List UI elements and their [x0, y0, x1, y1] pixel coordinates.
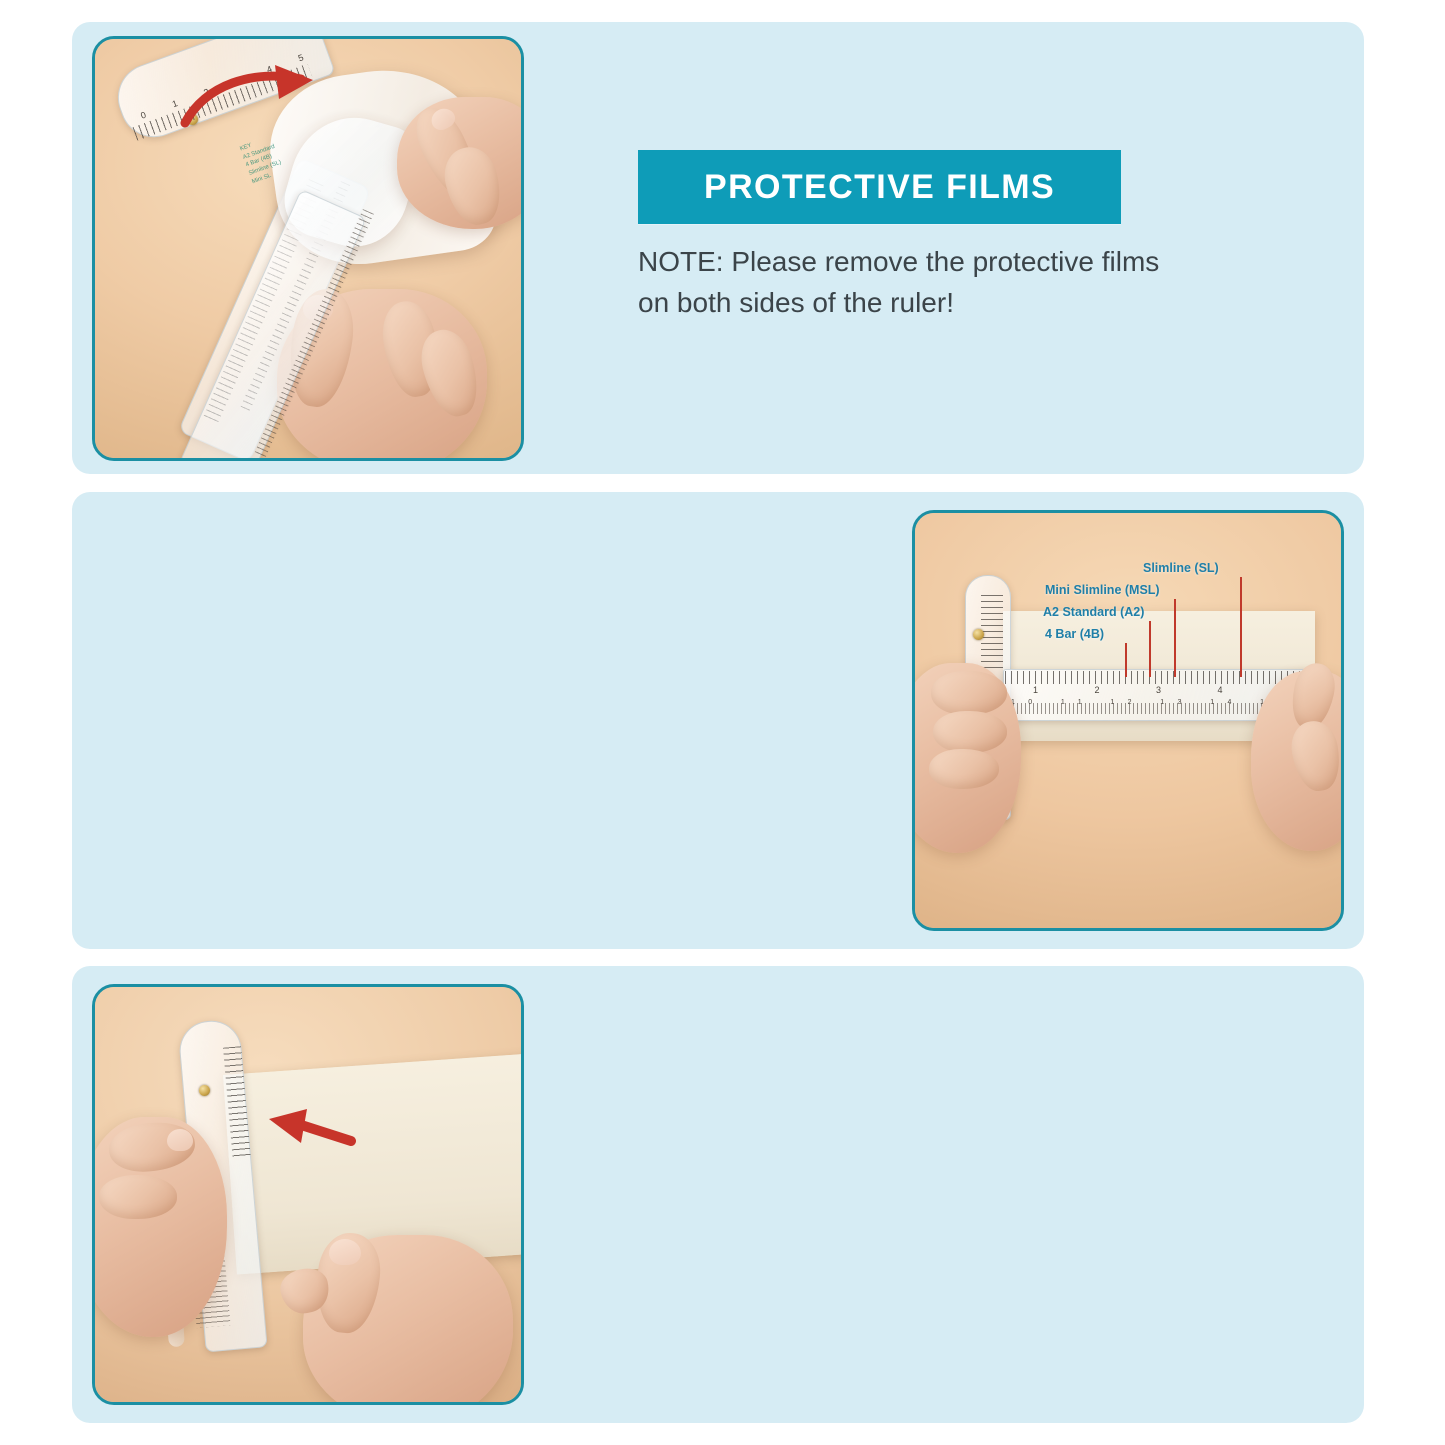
infographic-page: 0 1 2 3 4 5 KEYA2 Standard4 Bar (4B)Slim…: [0, 0, 1445, 1445]
panel-protective-films: 0 1 2 3 4 5 KEYA2 Standard4 Bar (4B)Slim…: [72, 22, 1364, 474]
heading-protective-films: PROTECTIVE FILMS: [638, 150, 1121, 224]
fingernail-left-thumb: [167, 1129, 193, 1151]
annotation-label-mini-slimline: Mini Slimline (MSL): [1045, 583, 1160, 597]
leader-line-slimline: [1240, 577, 1242, 677]
finger-left-middle: [933, 711, 1007, 753]
annotation-label-4-bar: 4 Bar (4B): [1045, 627, 1104, 641]
leader-line-mini-slimline: [1174, 599, 1176, 677]
ruler-grommet-top: [973, 629, 984, 640]
ruler-ticks-vertical: [981, 595, 1003, 671]
ruler-ticks-top-row: [1005, 671, 1323, 684]
leader-line-a2-standard: [1149, 621, 1151, 677]
text-block-protective-films: PROTECTIVE FILMS NOTE: Please remove the…: [638, 150, 1198, 323]
leader-line-4-bar: [1125, 643, 1127, 677]
photo-deep-edge: [92, 984, 524, 1405]
finger-left-index: [99, 1175, 177, 1219]
annotation-label-slimline: Slimline (SL): [1143, 561, 1219, 575]
body-protective-films: NOTE: Please remove the protective films…: [638, 242, 1198, 323]
red-curved-arrow-icon: [179, 63, 329, 137]
red-left-arrow-icon: [255, 1107, 355, 1151]
photo-protective-films: 0 1 2 3 4 5 KEYA2 Standard4 Bar (4B)Slim…: [92, 36, 524, 461]
panel-deep-edge: DEEP EDGE A really deep edge is designed…: [72, 966, 1364, 1423]
finger-left-ring: [929, 749, 999, 789]
ruler-grommet-top: [199, 1085, 210, 1096]
fingernail-right-thumb: [329, 1239, 361, 1265]
photo-handy-marks: 1 2 3 4 5 6 7 8 10 11 12 13 14 15 16 17 …: [912, 510, 1344, 931]
panel-handy-marks: HANDY MARKS All of the most common card …: [72, 492, 1364, 949]
annotation-label-a2-standard: A2 Standard (A2): [1043, 605, 1144, 619]
finger-left-index: [931, 671, 1007, 715]
